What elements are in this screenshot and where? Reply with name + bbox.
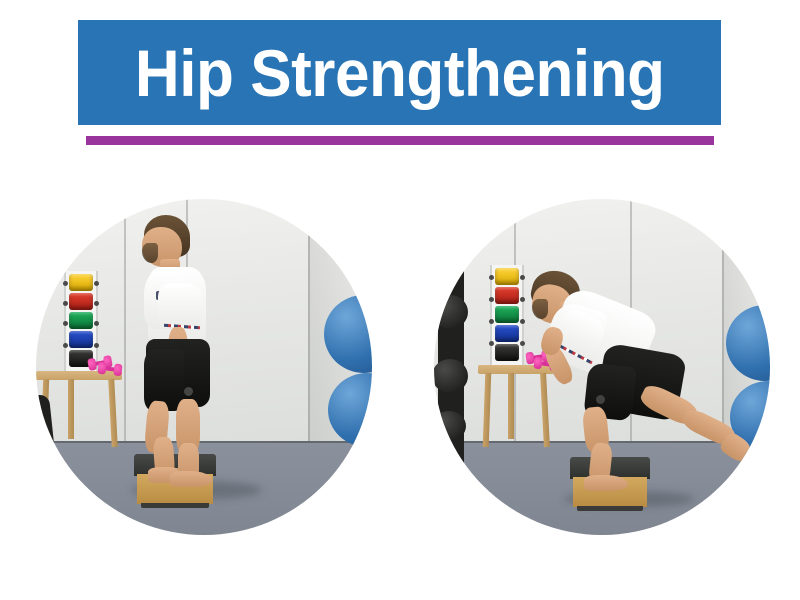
person-back-foot <box>170 471 212 487</box>
rack-post <box>489 297 494 302</box>
rack-post <box>489 275 494 280</box>
figure-right-photo <box>434 199 770 535</box>
dumbbell-end <box>97 362 106 375</box>
rack-post <box>94 343 99 348</box>
resistance-band-rack <box>490 265 524 369</box>
rack-post <box>520 319 525 324</box>
band-roll-yellow <box>69 274 93 291</box>
dumbbell-end <box>113 363 122 376</box>
gym-scene-right <box>434 199 770 535</box>
band-roll-red <box>495 287 519 304</box>
title-banner: Hip Strengthening <box>78 20 721 125</box>
band-roll-green <box>69 312 93 329</box>
rack-post <box>63 301 68 306</box>
band-roll-red <box>69 293 93 310</box>
shorts-logo <box>184 387 193 396</box>
dumbbell-end <box>533 356 543 369</box>
page-title: Hip Strengthening <box>135 40 665 106</box>
step-box-foot <box>141 503 209 508</box>
rack-post <box>520 297 525 302</box>
wall-seam <box>124 199 126 441</box>
wooden-side-table <box>478 365 554 451</box>
table-leg <box>108 379 118 447</box>
rack-post <box>520 341 525 346</box>
dumbbell-end <box>87 358 97 371</box>
person-beard <box>532 299 548 319</box>
table-leg <box>540 373 550 447</box>
band-roll-yellow <box>495 268 519 285</box>
table-leg <box>483 373 492 447</box>
person-sleeve <box>158 283 202 329</box>
band-roll-green <box>495 306 519 323</box>
rack-post <box>94 301 99 306</box>
band-roll-blue <box>495 325 519 342</box>
rack-post <box>63 343 68 348</box>
band-roll-black <box>495 344 519 361</box>
rack-post <box>520 275 525 280</box>
rack-post <box>489 341 494 346</box>
slide-root: Hip Strengthening <box>0 0 800 600</box>
rack-post <box>63 321 68 326</box>
rack-post <box>489 319 494 324</box>
rack-post <box>94 281 99 286</box>
gym-scene-left <box>36 199 372 535</box>
step-box-foot <box>577 506 643 511</box>
shorts-logo <box>596 395 605 404</box>
table-leg <box>68 379 74 439</box>
rack-post <box>63 281 68 286</box>
rack-post <box>94 321 99 326</box>
table-leg <box>508 373 514 439</box>
person-beard <box>142 243 158 263</box>
person-stance-foot <box>584 475 628 491</box>
title-underline-rule <box>86 136 714 145</box>
pink-dumbbell <box>97 362 122 376</box>
band-roll-blue <box>69 331 93 348</box>
figure-left-photo <box>36 199 372 535</box>
